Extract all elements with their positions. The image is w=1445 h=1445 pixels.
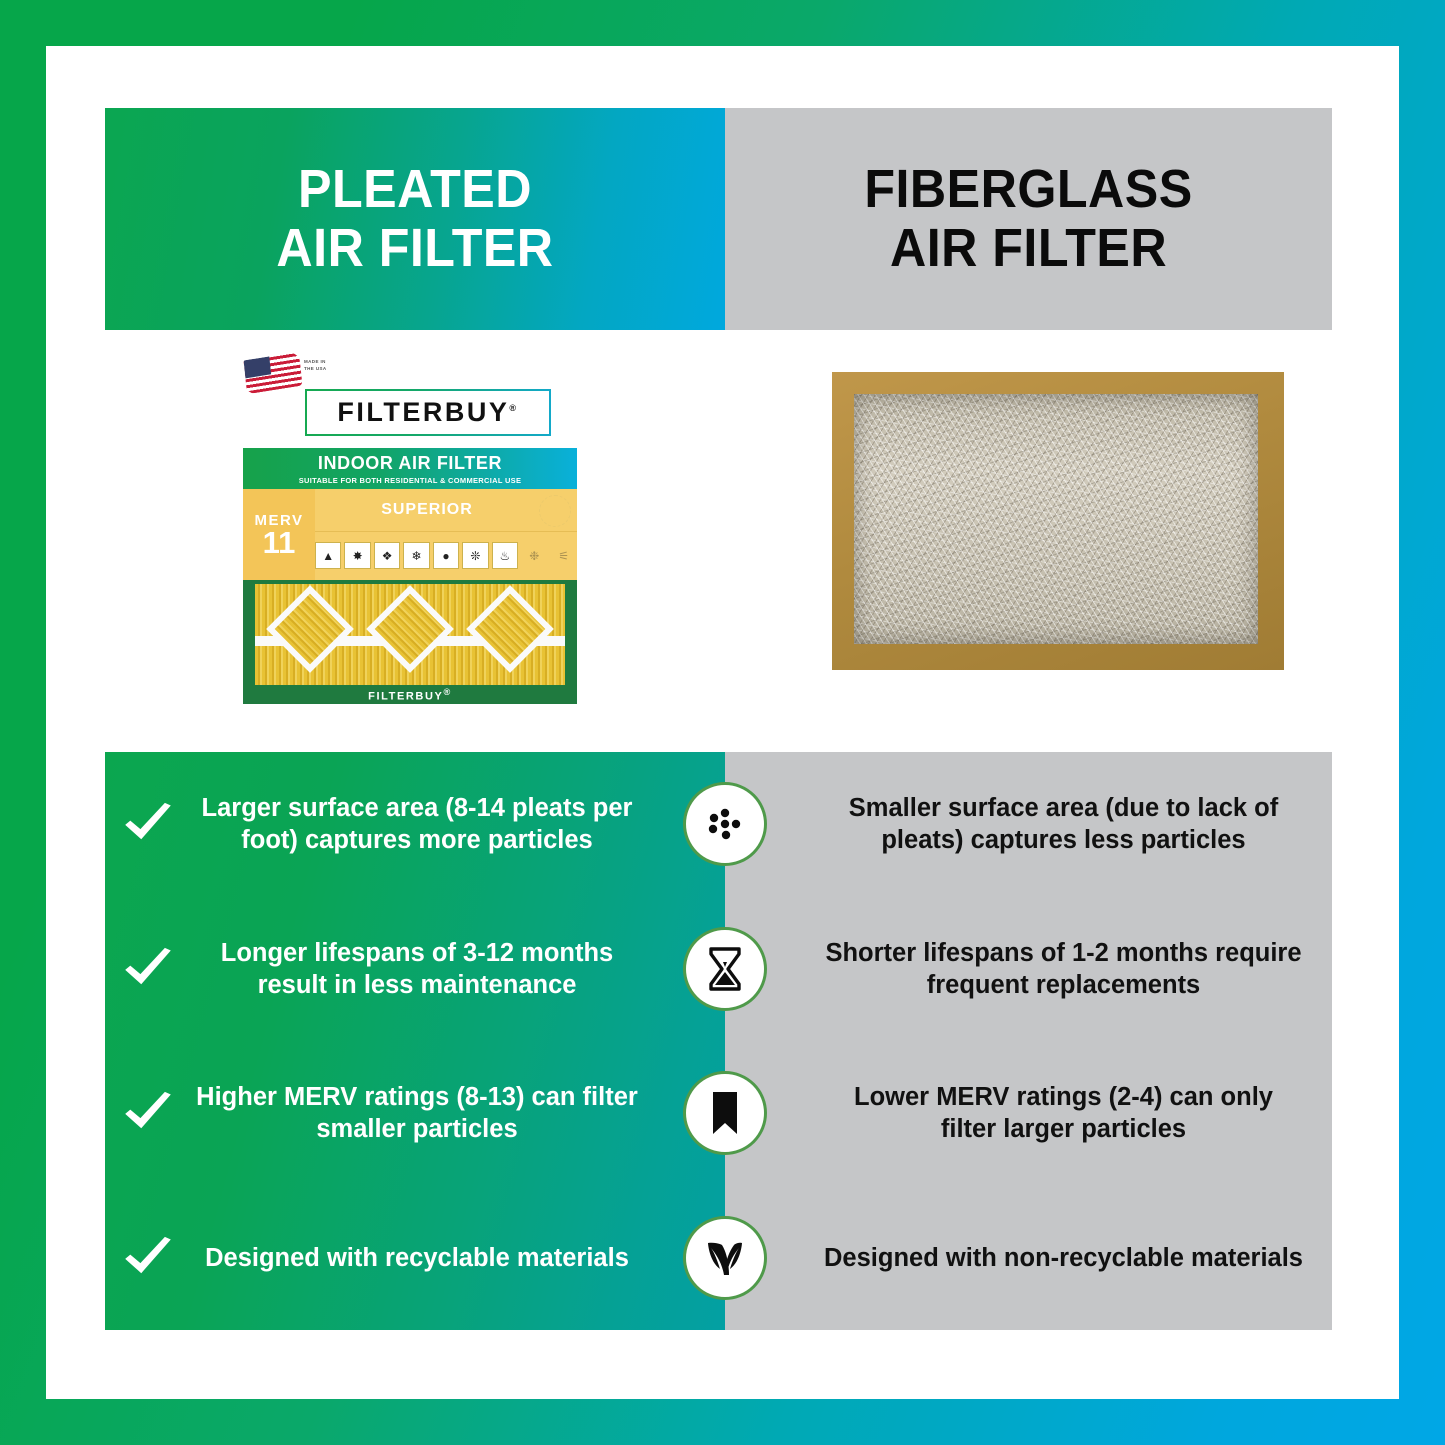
- comparison-text-right: Designed with non-recyclable materials: [823, 1242, 1304, 1274]
- made-in-line1: MADE IN: [304, 359, 327, 366]
- footer-brand-text: FILTERBUY®: [368, 687, 452, 703]
- particles-icon: [683, 782, 767, 866]
- comparison-text-right: Lower MERV ratings (2-4) can only filter…: [823, 1081, 1304, 1145]
- footer-brand-mark: ®: [443, 687, 451, 697]
- content-area: PLEATED AIR FILTER FIBERGLASS AIR FILTER: [105, 108, 1332, 1330]
- leaf-icon: [683, 1216, 767, 1300]
- header-fiberglass-line1: FIBERGLASS: [864, 159, 1192, 219]
- mold-icon: ●: [433, 542, 459, 569]
- comparison-text-left: Longer lifespans of 3-12 months result i…: [191, 937, 643, 1001]
- comparison-text-left: Higher MERV ratings (8-13) can filter sm…: [191, 1081, 643, 1145]
- fiberglass-mesh: [854, 394, 1258, 644]
- merv-value: 11: [263, 527, 296, 558]
- certification-seal-icon: [539, 495, 571, 527]
- infographic-poster: PLEATED AIR FILTER FIBERGLASS AIR FILTER: [0, 0, 1445, 1445]
- checkmark-icon: [105, 1231, 191, 1285]
- comparison-cell-right: Lower MERV ratings (2-4) can only filter…: [725, 1081, 1332, 1145]
- comparison-row: Longer lifespans of 3-12 months result i…: [105, 897, 1332, 1042]
- comparison-rows: Larger surface area (8-14 pleats per foo…: [105, 752, 1332, 1330]
- bacteria-icon: ❉: [521, 542, 547, 569]
- hourglass-icon: [683, 927, 767, 1011]
- header-fiberglass-line2: AIR FILTER: [864, 219, 1192, 278]
- comparison-cell-right: Smaller surface area (due to lack of ple…: [725, 792, 1332, 856]
- product-box-footer: FILTERBUY®: [243, 685, 577, 704]
- dust-icon: ▲: [315, 542, 341, 569]
- pleated-filter-product-image: MADE IN THE USA FILTERBUY® INDOOR AIR FI…: [243, 352, 577, 704]
- header-fiberglass: FIBERGLASS AIR FILTER: [725, 108, 1332, 330]
- checkmark-icon: [105, 1086, 191, 1140]
- pollen-icon: ❄: [403, 542, 429, 569]
- made-in-line2: THE USA: [304, 366, 327, 373]
- comparison-text-right: Shorter lifespans of 1-2 months require …: [823, 937, 1304, 1001]
- merv-badge: MERV 11: [243, 489, 315, 580]
- bookmark-icon: [683, 1071, 767, 1155]
- comparison-cell-right: Designed with non-recyclable materials: [725, 1242, 1332, 1274]
- header-pleated-line2: AIR FILTER: [276, 219, 553, 278]
- white-card: PLEATED AIR FILTER FIBERGLASS AIR FILTER: [46, 46, 1399, 1399]
- usa-flag-icon: [244, 352, 303, 394]
- band-subtitle: SUITABLE FOR BOTH RESIDENTIAL & COMMERCI…: [299, 476, 522, 485]
- fiberglass-filter-photo: [832, 372, 1284, 670]
- brand-name: FILTERBUY: [337, 397, 509, 427]
- virus-icon: ❖: [374, 542, 400, 569]
- footer-brand-name: FILTERBUY: [368, 690, 443, 702]
- checkmark-icon: [105, 942, 191, 996]
- filterbuy-logo-text: FILTERBUY®: [337, 397, 518, 428]
- comparison-row: Higher MERV ratings (8-13) can filter sm…: [105, 1041, 1332, 1186]
- tier-label: SUPERIOR: [381, 501, 473, 519]
- feature-icons-row: ▲ ✸ ❖ ❄ ● ❊ ♨ ❉ ⚟: [315, 531, 577, 580]
- header-pleated: PLEATED AIR FILTER: [105, 108, 725, 330]
- comparison-text-right: Smaller surface area (due to lack of ple…: [823, 792, 1304, 856]
- made-in-usa-label: MADE IN THE USA: [304, 359, 327, 373]
- smoke-icon: ♨: [492, 542, 518, 569]
- checkmark-icon: [105, 797, 191, 851]
- comparison-text-left: Larger surface area (8-14 pleats per foo…: [191, 792, 643, 856]
- header-fiberglass-title: FIBERGLASS AIR FILTER: [864, 160, 1192, 278]
- brand-registered-mark: ®: [509, 403, 518, 413]
- comparison-panel: Larger surface area (8-14 pleats per foo…: [105, 752, 1332, 1330]
- comparison-row: Larger surface area (8-14 pleats per foo…: [105, 752, 1332, 897]
- comparison-cell-right: Shorter lifespans of 1-2 months require …: [725, 937, 1332, 1001]
- comparison-cell-left: Longer lifespans of 3-12 months result i…: [105, 937, 725, 1001]
- comparison-cell-left: Designed with recyclable materials: [105, 1231, 725, 1285]
- header-band: PLEATED AIR FILTER FIBERGLASS AIR FILTER: [105, 108, 1332, 330]
- product-images-row: MADE IN THE USA FILTERBUY® INDOOR AIR FI…: [105, 330, 1332, 752]
- band-title: INDOOR AIR FILTER: [318, 453, 502, 474]
- bug-icon: ✸: [344, 542, 370, 569]
- comparison-cell-left: Larger surface area (8-14 pleats per foo…: [105, 792, 725, 856]
- product-box-band: INDOOR AIR FILTER SUITABLE FOR BOTH RESI…: [243, 448, 577, 489]
- header-pleated-title: PLEATED AIR FILTER: [276, 160, 553, 278]
- comparison-text-left: Designed with recyclable materials: [191, 1242, 643, 1274]
- odor-icon: ⚟: [551, 542, 577, 569]
- pet-dander-icon: ❊: [462, 542, 488, 569]
- pleated-media-view: FILTERBUY®: [243, 580, 577, 704]
- comparison-row: Designed with recyclable materials Desig…: [105, 1186, 1332, 1331]
- product-box-gold-section: MERV 11 SUPERIOR ▲ ✸ ❖ ❄ ●: [243, 489, 577, 580]
- comparison-cell-left: Higher MERV ratings (8-13) can filter sm…: [105, 1081, 725, 1145]
- header-pleated-line1: PLEATED: [298, 159, 532, 219]
- tier-row: SUPERIOR: [315, 489, 577, 532]
- filterbuy-logo: FILTERBUY®: [305, 389, 551, 436]
- product-box-top: MADE IN THE USA FILTERBUY®: [243, 352, 577, 448]
